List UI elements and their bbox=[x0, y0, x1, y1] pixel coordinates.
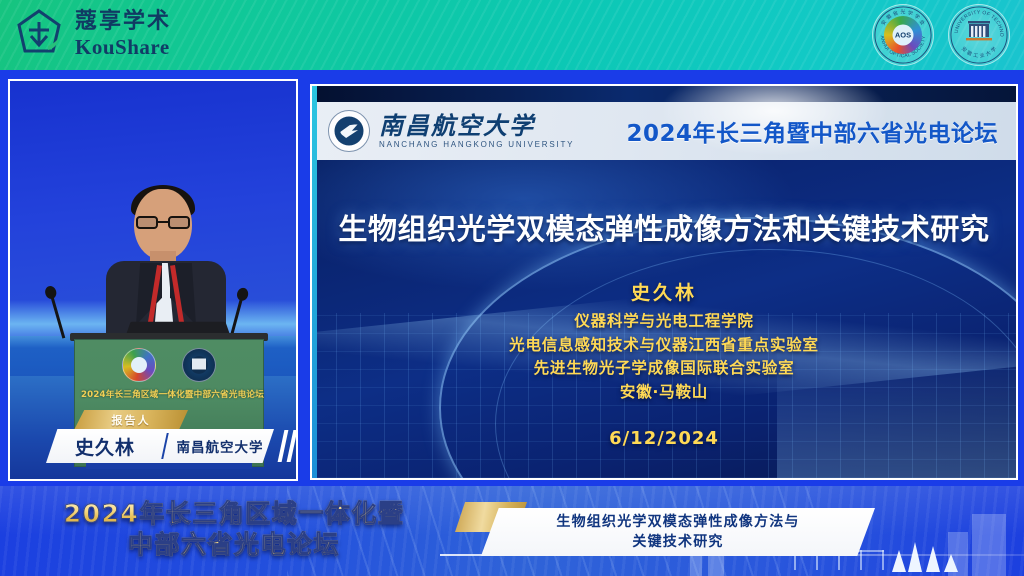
slide-affiliation-line: 仪器科学与光电工程学院 bbox=[312, 310, 1016, 334]
presentation-slide[interactable]: 南昌航空大学 NANCHANG HANGKONG UNIVERSITY 2024… bbox=[310, 84, 1018, 480]
banner-sails-icon bbox=[892, 542, 962, 572]
podium-aut-logo bbox=[182, 348, 216, 382]
koushare-name-cn: 蔻享学术 bbox=[75, 11, 171, 33]
top-header-bar: 蔻享学术 KouShare 安 徽 省 光 学 学 会 ANHUI OPTICA… bbox=[0, 0, 1024, 70]
nchu-wordmark: 南昌航空大学 NANCHANG HANGKONG UNIVERSITY bbox=[379, 113, 574, 149]
banner-talk-title-plate: 生物组织光学双模态弹性成像方法与 关键技术研究 bbox=[455, 506, 875, 558]
slide-affiliation-line: 先进生物光子学成像国际联合实验室 bbox=[312, 357, 1016, 381]
banner-plate-body: 生物组织光学双模态弹性成像方法与 关键技术研究 bbox=[481, 508, 875, 556]
aut-gate-emblem-icon bbox=[964, 20, 994, 46]
slide-author-name: 史久林 bbox=[312, 278, 1016, 305]
slide-affiliation-line: 光电信息感知技术与仪器江西省重点实验室 bbox=[312, 334, 1016, 358]
koushare-brand[interactable]: 蔻享学术 KouShare bbox=[12, 6, 171, 62]
koushare-name-en: KouShare bbox=[75, 37, 171, 58]
svg-text:安 徽 工 业 大 学: 安 徽 工 业 大 学 bbox=[960, 45, 998, 59]
speaker-role-label: 报告人 bbox=[112, 412, 151, 428]
slide-date: 6/12/2024 bbox=[312, 428, 1016, 449]
organizer-logos: 安 徽 省 光 学 学 会 ANHUI OPTICAL SOCIETY AOS … bbox=[872, 4, 1010, 66]
bottom-banner: 2024年长三角区域一体化暨 中部六省光电论坛 生物组织光学双模态弹性成像方法与… bbox=[0, 486, 1024, 576]
university-name-en: NANCHANG HANGKONG UNIVERSITY bbox=[379, 140, 574, 149]
screen-root: 蔻享学术 KouShare 安 徽 省 光 学 学 会 ANHUI OPTICA… bbox=[0, 0, 1024, 576]
seal-bird-icon bbox=[340, 124, 358, 138]
anhui-university-of-technology-logo: ANHUI UNIVERSITY OF TECHNOLOGY 安 徽 工 业 大… bbox=[948, 4, 1010, 66]
banner-forum-title: 2024年长三角区域一体化暨 中部六省光电论坛 bbox=[14, 498, 454, 561]
aos-abbr: AOS bbox=[895, 31, 911, 40]
banner-talk-title-line1: 生物组织光学双模态弹性成像方法与 bbox=[556, 512, 799, 532]
podium-forum-title: 2024年长三角区域一体化暨中部六省光电论坛 bbox=[81, 388, 259, 400]
banner-building bbox=[972, 514, 1006, 576]
slide-header-band: 南昌航空大学 NANCHANG HANGKONG UNIVERSITY 2024… bbox=[312, 102, 1016, 160]
speaker-name-card: 报告人 史久林 南昌航空大学 bbox=[32, 410, 294, 466]
speaker-role-tab: 报告人 bbox=[74, 410, 188, 430]
speaker-name-bar: 史久林 南昌航空大学 bbox=[46, 429, 274, 463]
slide-title: 生物组织光学双模态弹性成像方法和关键技术研究 bbox=[312, 206, 1016, 248]
nchu-branding: 南昌航空大学 NANCHANG HANGKONG UNIVERSITY bbox=[328, 110, 574, 152]
banner-forum-title-line2: 中部六省光电论坛 bbox=[14, 529, 454, 560]
slide-affiliations: 仪器科学与光电工程学院 光电信息感知技术与仪器江西省重点实验室 先进生物光子学成… bbox=[312, 310, 1016, 404]
koushare-wordmark: 蔻享学术 KouShare bbox=[75, 11, 171, 58]
university-name-cn: 南昌航空大学 bbox=[379, 113, 574, 138]
podium-aos-logo bbox=[122, 348, 156, 382]
slide-affiliation-line: 安徽·马鞍山 bbox=[312, 381, 1016, 405]
slide-forum-name: 2024年长三角暨中部六省光电论坛 bbox=[626, 114, 998, 148]
speaker-organization: 南昌航空大学 bbox=[166, 436, 274, 456]
aos-color-wheel-icon: AOS bbox=[884, 16, 922, 54]
aos-society-logo: 安 徽 省 光 学 学 会 ANHUI OPTICAL SOCIETY AOS bbox=[872, 4, 934, 66]
eyeglasses-icon bbox=[136, 216, 190, 229]
koushare-logo-icon bbox=[12, 6, 66, 62]
banner-talk-title-line2: 关键技术研究 bbox=[632, 532, 723, 552]
banner-forum-title-line1: 2024年长三角区域一体化暨 bbox=[14, 498, 454, 529]
speaker-name: 史久林 bbox=[46, 433, 164, 460]
name-card-slash-decor bbox=[274, 430, 296, 462]
slide-left-accent-bar bbox=[312, 86, 317, 478]
nanchang-hangkong-university-seal-icon bbox=[328, 110, 370, 152]
slide-body: 生物组织光学双模态弹性成像方法和关键技术研究 史久林 仪器科学与光电工程学院 光… bbox=[312, 160, 1016, 478]
podium-logos bbox=[122, 348, 216, 382]
